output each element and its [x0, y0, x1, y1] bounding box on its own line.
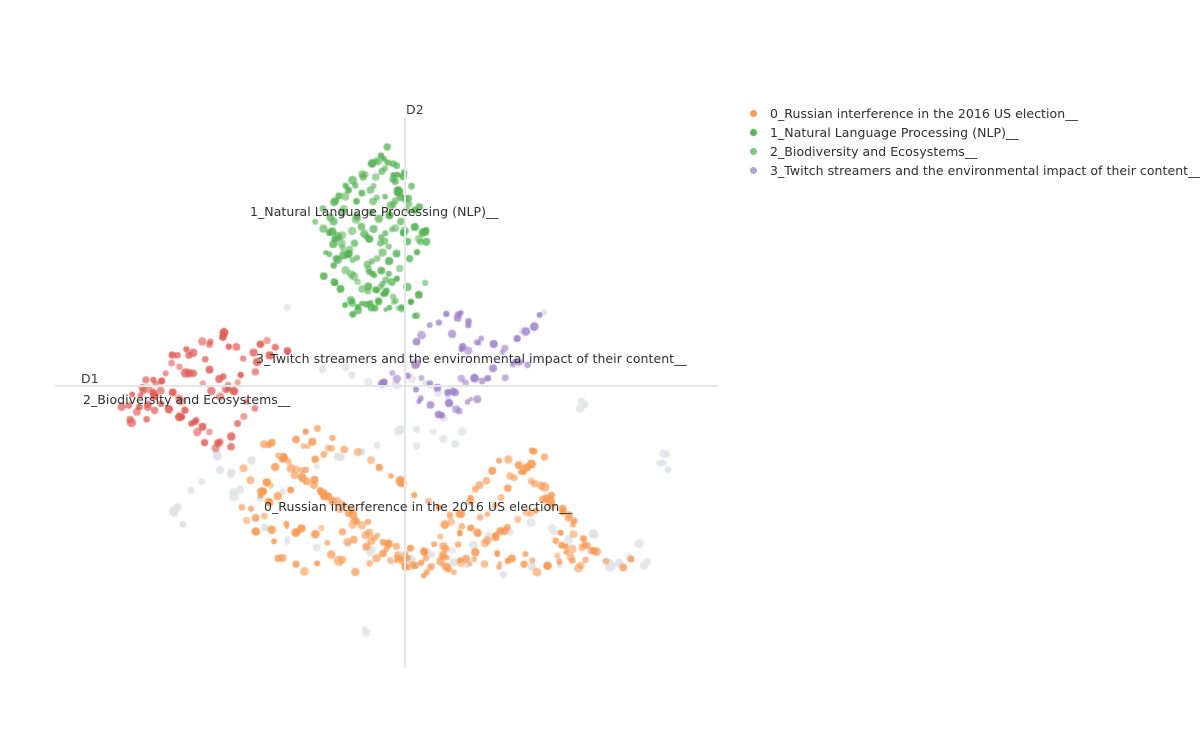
- topic-visualization-root: D1 D2 1_Natural Language Processing (NLP…: [0, 0, 1200, 750]
- scatter-points-canvas[interactable]: [0, 0, 730, 750]
- cluster-annotation-3: 3_Twitch streamers and the environmental…: [256, 351, 687, 366]
- cluster-annotation-2: 2_Biodiversity and Ecosystems__: [83, 392, 290, 407]
- legend-swatch-icon-topic-0: [750, 110, 757, 117]
- legend-label-topic-1: 1_Natural Language Processing (NLP)__: [770, 125, 1019, 140]
- legend-label-topic-2: 2_Biodiversity and Ecosystems__: [770, 144, 977, 159]
- x-axis-label: D1: [81, 371, 99, 386]
- legend-item-topic-0[interactable]: 0_Russian interference in the 2016 US el…: [745, 104, 1195, 123]
- scatter-plot-area[interactable]: D1 D2 1_Natural Language Processing (NLP…: [0, 0, 730, 750]
- cluster-annotation-1: 1_Natural Language Processing (NLP)__: [250, 204, 499, 219]
- legend[interactable]: 0_Russian interference in the 2016 US el…: [745, 104, 1195, 180]
- legend-swatch-icon-topic-2: [750, 148, 757, 155]
- legend-swatch-icon-topic-1: [750, 129, 757, 136]
- legend-label-topic-3: 3_Twitch streamers and the environmental…: [770, 163, 1200, 178]
- y-axis-line: [404, 118, 406, 668]
- cluster-annotation-0: 0_Russian interference in the 2016 US el…: [264, 499, 572, 514]
- legend-item-topic-2[interactable]: 2_Biodiversity and Ecosystems__: [745, 142, 1195, 161]
- x-axis-line: [55, 385, 718, 387]
- legend-item-topic-1[interactable]: 1_Natural Language Processing (NLP)__: [745, 123, 1195, 142]
- legend-item-topic-3[interactable]: 3_Twitch streamers and the environmental…: [745, 161, 1195, 180]
- legend-swatch-icon-topic-3: [750, 167, 757, 174]
- y-axis-label: D2: [406, 102, 424, 117]
- legend-label-topic-0: 0_Russian interference in the 2016 US el…: [770, 106, 1078, 121]
